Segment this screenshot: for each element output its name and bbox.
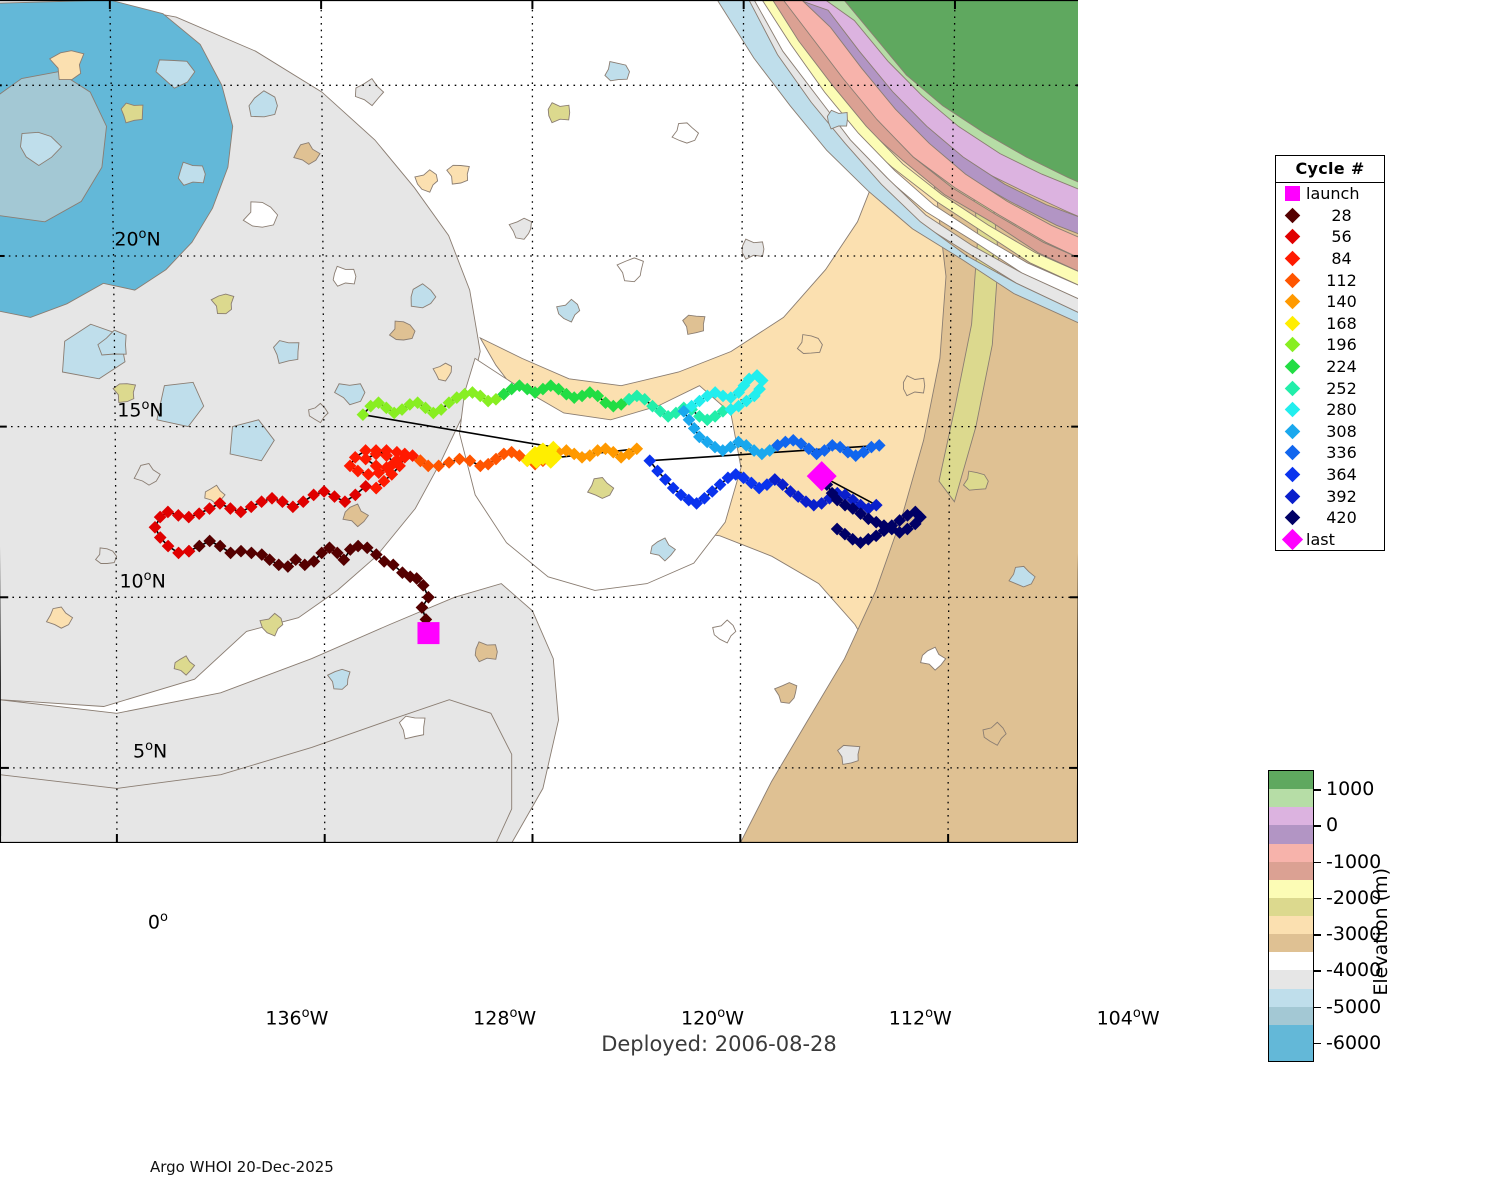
x-tick-label: 128oW — [460, 1006, 550, 1029]
cycle-legend[interactable]: Cycle # launch28568411214016819622425228… — [1275, 155, 1385, 551]
legend-item-140[interactable]: 140 — [1276, 291, 1384, 313]
launch-marker — [417, 622, 439, 644]
legend-item-label: last — [1303, 530, 1384, 549]
legend-item-112[interactable]: 112 — [1276, 269, 1384, 291]
colorbar-band — [1269, 934, 1313, 952]
y-tick-label: 15oN — [117, 398, 163, 421]
legend-item-196[interactable]: 196 — [1276, 334, 1384, 356]
cycle-swatch — [1284, 316, 1300, 332]
map-graphics — [0, 0, 1078, 843]
legend-item-label: 336 — [1303, 443, 1384, 462]
colorbar-tick — [1313, 789, 1321, 791]
legend-item-336[interactable]: 336 — [1276, 442, 1384, 464]
legend-item-308[interactable]: 308 — [1276, 421, 1384, 443]
colorbar-band — [1269, 916, 1313, 934]
map-plot[interactable] — [0, 0, 1078, 843]
legend-item-label: launch — [1303, 184, 1384, 203]
colorbar-band — [1269, 880, 1313, 898]
cycle-swatch — [1284, 229, 1300, 245]
y-tick-label: 20oN — [114, 227, 160, 250]
elevation-colorbar[interactable]: 10000-1000-2000-3000-4000-5000-6000 — [1268, 770, 1314, 1062]
colorbar-band — [1269, 825, 1313, 843]
colorbar-tick — [1313, 862, 1321, 864]
colorbar-tick — [1313, 1007, 1321, 1009]
legend-item-252[interactable]: 252 — [1276, 377, 1384, 399]
y-tick-label: 10oN — [119, 569, 165, 592]
x-tick-label: 136oW — [252, 1006, 342, 1029]
legend-item-label: 280 — [1303, 400, 1384, 419]
colorbar-tick — [1313, 970, 1321, 972]
legend-item-label: 364 — [1303, 465, 1384, 484]
y-tick-label: 0o — [148, 910, 168, 933]
legend-item-label: 112 — [1303, 271, 1384, 290]
cycle-swatch — [1284, 402, 1300, 418]
legend-item-label: 308 — [1303, 422, 1384, 441]
deployed-date: Deployed: 2006-08-28 — [180, 1032, 1258, 1056]
legend-item-84[interactable]: 84 — [1276, 248, 1384, 270]
cycle-swatch — [1284, 445, 1300, 461]
colorbar-band — [1269, 970, 1313, 988]
legend-item-28[interactable]: 28 — [1276, 205, 1384, 227]
cycle-swatch — [1284, 467, 1300, 483]
colorbar-band — [1269, 1007, 1313, 1025]
cycle-swatch — [1284, 294, 1300, 310]
legend-item-label: 392 — [1303, 487, 1384, 506]
colorbar-tick-label: -6000 — [1326, 1032, 1381, 1054]
colorbar-band — [1269, 1025, 1313, 1061]
legend-item-392[interactable]: 392 — [1276, 485, 1384, 507]
launch-swatch — [1285, 186, 1300, 201]
legend-item-280[interactable]: 280 — [1276, 399, 1384, 421]
colorbar-tick — [1313, 825, 1321, 827]
colorbar-band — [1269, 789, 1313, 807]
colorbar-tick-label: 1000 — [1326, 778, 1374, 800]
colorbar-tick-label: 0 — [1326, 814, 1338, 836]
colorbar-band — [1269, 807, 1313, 825]
colorbar-tick — [1313, 898, 1321, 900]
cycle-swatch — [1284, 272, 1300, 288]
legend-item-364[interactable]: 364 — [1276, 464, 1384, 486]
credit-text: Argo WHOI 20-Dec-2025 — [150, 1158, 334, 1176]
colorbar-band — [1269, 989, 1313, 1007]
legend-item-label: 196 — [1303, 335, 1384, 354]
legend-title: Cycle # — [1276, 156, 1384, 183]
colorbar-tick — [1313, 1043, 1321, 1045]
cycle-swatch — [1284, 359, 1300, 375]
legend-item-label: 224 — [1303, 357, 1384, 376]
colorbar-band — [1269, 862, 1313, 880]
cycle-swatch — [1284, 510, 1300, 526]
legend-item-label: 56 — [1303, 227, 1384, 246]
colorbar-gradient — [1268, 770, 1314, 1062]
legend-items[interactable]: launch2856841121401681962242522803083363… — [1276, 183, 1384, 550]
legend-item-label: 420 — [1303, 508, 1384, 527]
colorbar-band — [1269, 898, 1313, 916]
cycle-swatch — [1284, 488, 1300, 504]
colorbar-axis-label: Elevation (m) — [1370, 868, 1392, 996]
legend-item-label: 84 — [1303, 249, 1384, 268]
cycle-swatch — [1284, 424, 1300, 440]
legend-item-224[interactable]: 224 — [1276, 356, 1384, 378]
cycle-swatch — [1284, 337, 1300, 353]
legend-item-label: 28 — [1303, 206, 1384, 225]
cycle-swatch — [1284, 208, 1300, 224]
legend-item-label: 140 — [1303, 292, 1384, 311]
colorbar-tick — [1313, 934, 1321, 936]
y-tick-label: 5oN — [133, 739, 167, 762]
legend-item-launch[interactable]: launch — [1276, 183, 1384, 205]
cycle-swatch — [1284, 380, 1300, 396]
legend-item-168[interactable]: 168 — [1276, 313, 1384, 335]
last-swatch — [1281, 529, 1302, 550]
x-tick-label: 104oW — [1083, 1006, 1173, 1029]
legend-item-label: 168 — [1303, 314, 1384, 333]
colorbar-band — [1269, 952, 1313, 970]
legend-item-label: 252 — [1303, 379, 1384, 398]
cycle-swatch — [1284, 251, 1300, 267]
legend-item-420[interactable]: 420 — [1276, 507, 1384, 529]
legend-item-last[interactable]: last — [1276, 529, 1384, 551]
colorbar-band — [1269, 844, 1313, 862]
colorbar-band — [1269, 771, 1313, 789]
legend-item-56[interactable]: 56 — [1276, 226, 1384, 248]
x-tick-label: 112oW — [875, 1006, 965, 1029]
colorbar-tick-label: -5000 — [1326, 996, 1381, 1018]
x-tick-label: 120oW — [668, 1006, 758, 1029]
